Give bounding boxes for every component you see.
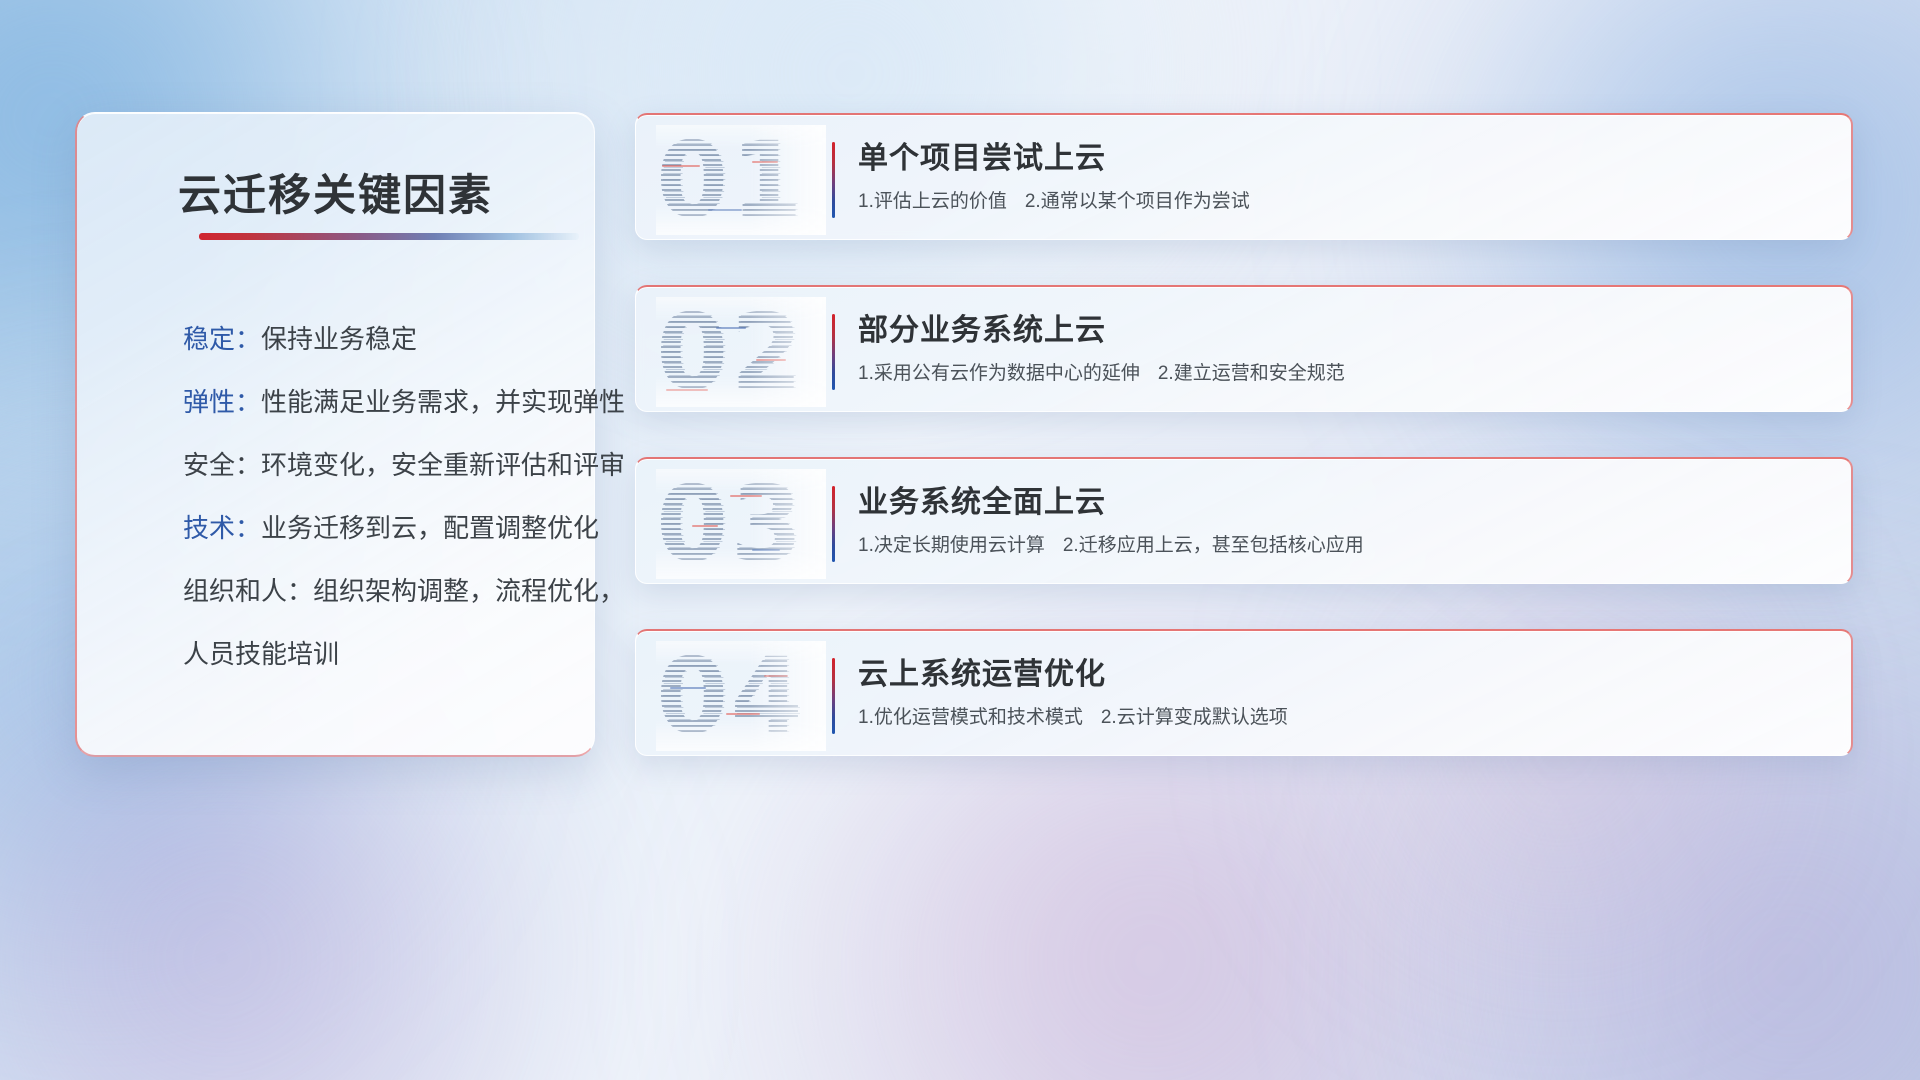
list-item: 弹性：性能满足业务需求，并实现弹性 — [109, 371, 570, 434]
stage-number-glyph: 04 — [656, 641, 805, 751]
stage-number-02: 02 02 — [656, 297, 826, 407]
stage-card-content: 云上系统运营优化 1.优化运营模式和技术模式2.云计算变成默认选项 — [858, 653, 1827, 735]
accent-divider — [832, 142, 835, 218]
stage-title: 部分业务系统上云 — [858, 309, 1827, 353]
key-factors-list: 稳定：保持业务稳定 弹性：性能满足业务需求，并实现弹性 安全：环境变化，安全重新… — [109, 308, 570, 686]
stage-card-04[interactable]: 04 04 云上系统运营优化 1.优化运营模式和技术模式2.云计算变成默认选项 — [635, 629, 1853, 756]
stage-card-03[interactable]: 03 03 业务系统全面上云 1.决定长期使用云计算2.迁移应用上云，甚至包括核… — [635, 457, 1853, 584]
streak-accent-blue — [752, 549, 780, 551]
factor-label: 弹性： — [183, 387, 261, 417]
factor-text: 业务迁移到云，配置调整优化 — [261, 513, 599, 543]
stage-point-2: 2.建立运营和安全规范 — [1158, 363, 1345, 384]
list-item: 稳定：保持业务稳定 — [109, 308, 570, 371]
streak-accent-red — [764, 675, 788, 677]
stage-point-1: 1.采用公有云作为数据中心的延伸 — [858, 363, 1140, 384]
factor-text: 环境变化，安全重新评估和评审 — [261, 450, 625, 480]
stage-points: 1.评估上云的价值2.通常以某个项目作为尝试 — [858, 185, 1827, 219]
slide-stage: 云迁移关键因素 稳定：保持业务稳定 弹性：性能满足业务需求，并实现弹性 安全：环… — [0, 0, 1920, 1080]
factor-text: 性能满足业务需求，并实现弹性 — [261, 387, 625, 417]
factor-label: 组织和人： — [183, 576, 313, 606]
factor-label: 安全： — [183, 450, 261, 480]
stage-card-01[interactable]: 01 01 单个项目尝试上云 1.评估上云的价值2.通常以某个项目作为尝试 — [635, 113, 1853, 240]
stage-point-2: 2.云计算变成默认选项 — [1101, 707, 1288, 728]
factor-text: 人员技能培训 — [183, 639, 339, 669]
stage-card-content: 业务系统全面上云 1.决定长期使用云计算2.迁移应用上云，甚至包括核心应用 — [858, 481, 1827, 563]
streak-accent-red — [666, 389, 708, 391]
factor-label: 技术： — [183, 513, 261, 543]
list-item: 安全：环境变化，安全重新评估和评审 — [109, 434, 570, 497]
stage-title: 单个项目尝试上云 — [858, 137, 1827, 181]
stage-point-1: 1.评估上云的价值 — [858, 191, 1007, 212]
stage-points: 1.决定长期使用云计算2.迁移应用上云，甚至包括核心应用 — [858, 529, 1827, 563]
stage-point-1: 1.决定长期使用云计算 — [858, 535, 1045, 556]
stage-card-content: 单个项目尝试上云 1.评估上云的价值2.通常以某个项目作为尝试 — [858, 137, 1827, 219]
factor-label: 稳定： — [183, 324, 261, 354]
page-title: 云迁移关键因素 — [77, 161, 594, 223]
list-item-continuation: 人员技能培训 — [109, 623, 570, 686]
stage-point-1: 1.优化运营模式和技术模式 — [858, 707, 1083, 728]
stage-point-2: 2.迁移应用上云，甚至包括核心应用 — [1063, 535, 1364, 556]
streak-accent-red — [662, 165, 700, 167]
stage-number-04: 04 04 — [656, 641, 826, 751]
accent-divider — [832, 658, 835, 734]
streak-accent-red — [692, 525, 718, 527]
stage-point-2: 2.通常以某个项目作为尝试 — [1025, 191, 1250, 212]
stage-points: 1.优化运营模式和技术模式2.云计算变成默认选项 — [858, 701, 1827, 735]
streak-accent-blue — [716, 327, 746, 329]
stage-number-01: 01 01 — [656, 125, 826, 235]
streak-accent-red — [756, 359, 786, 361]
stage-card-content: 部分业务系统上云 1.采用公有云作为数据中心的延伸2.建立运营和安全规范 — [858, 309, 1827, 391]
title-underline-rule — [199, 233, 579, 240]
stage-number-glyph: 03 — [656, 469, 805, 579]
stage-points: 1.采用公有云作为数据中心的延伸2.建立运营和安全规范 — [858, 357, 1827, 391]
stage-title: 业务系统全面上云 — [858, 481, 1827, 525]
stage-card-02[interactable]: 02 02 部分业务系统上云 1.采用公有云作为数据中心的延伸2.建立运营和安全… — [635, 285, 1853, 412]
stage-number-03: 03 03 — [656, 469, 826, 579]
factor-text: 组织架构调整，流程优化， — [313, 576, 625, 606]
streak-accent-red — [730, 495, 762, 497]
key-factors-panel: 云迁移关键因素 稳定：保持业务稳定 弹性：性能满足业务需求，并实现弹性 安全：环… — [75, 112, 595, 757]
streak-accent-red — [752, 161, 778, 163]
streak-accent-blue — [670, 687, 706, 689]
accent-divider — [832, 314, 835, 390]
list-item: 技术：业务迁移到云，配置调整优化 — [109, 497, 570, 560]
factor-text: 保持业务稳定 — [261, 324, 417, 354]
streak-accent-blue — [708, 209, 742, 211]
stage-title: 云上系统运营优化 — [858, 653, 1827, 697]
streak-accent-red — [726, 713, 760, 715]
accent-divider — [832, 486, 835, 562]
stage-number-glyph: 01 — [656, 125, 805, 235]
list-item: 组织和人：组织架构调整，流程优化， — [109, 560, 570, 623]
stage-cards-list: 01 01 单个项目尝试上云 1.评估上云的价值2.通常以某个项目作为尝试 02… — [635, 113, 1853, 756]
